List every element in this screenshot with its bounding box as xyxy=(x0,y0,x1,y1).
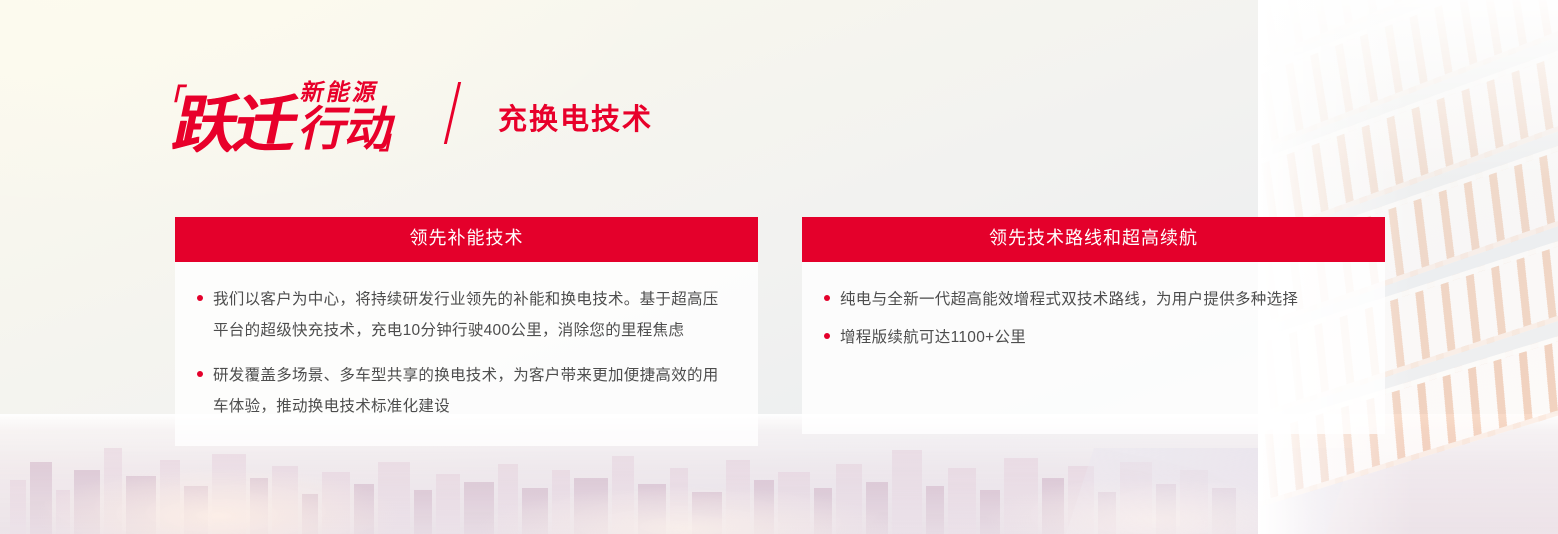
list-item: 增程版续航可达1100+公里 xyxy=(824,322,1359,355)
brand-logo: 「 跃迁 新能源 行动 「 xyxy=(175,72,393,154)
logo-main-text: 跃迁 xyxy=(169,96,301,154)
promo-banner: 「 跃迁 新能源 行动 「 充换电技术 领先补能技术 我们以客户为中心，将持续研… xyxy=(0,0,1558,534)
list-item: 我们以客户为中心，将持续研发行业领先的补能和换电技术。基于超高压平台的超级快充技… xyxy=(197,284,732,346)
card-title: 领先补能技术 xyxy=(175,217,758,262)
feature-card-range: 领先技术路线和超高续航 纯电与全新一代超高能效增程式双技术路线，为用户提供多种选… xyxy=(802,217,1385,446)
bullet-dot-icon xyxy=(824,295,830,301)
card-title: 领先技术路线和超高续航 xyxy=(802,217,1385,262)
slash-divider-icon xyxy=(444,82,461,144)
bullet-dot-icon xyxy=(197,371,203,377)
list-item: 纯电与全新一代超高能效增程式双技术路线，为用户提供多种选择 xyxy=(824,284,1359,317)
page-title: 充换电技术 xyxy=(498,96,653,138)
feature-card-charging: 领先补能技术 我们以客户为中心，将持续研发行业领先的补能和换电技术。基于超高压平… xyxy=(175,217,758,446)
list-item-text: 研发覆盖多场景、多车型共享的换电技术，为客户带来更加便捷高效的用车体验，推动换电… xyxy=(213,360,732,422)
card-body: 纯电与全新一代超高能效增程式双技术路线，为用户提供多种选择 增程版续航可达110… xyxy=(802,262,1385,434)
bullet-dot-icon xyxy=(197,295,203,301)
bullet-dot-icon xyxy=(824,333,830,339)
card-body: 我们以客户为中心，将持续研发行业领先的补能和换电技术。基于超高压平台的超级快充技… xyxy=(175,262,758,446)
list-item-text: 增程版续航可达1100+公里 xyxy=(840,322,1026,355)
feature-card-list: 领先补能技术 我们以客户为中心，将持续研发行业领先的补能和换电技术。基于超高压平… xyxy=(175,217,1385,446)
list-item: 研发覆盖多场景、多车型共享的换电技术，为客户带来更加便捷高效的用车体验，推动换电… xyxy=(197,360,732,422)
list-item-text: 我们以客户为中心，将持续研发行业领先的补能和换电技术。基于超高压平台的超级快充技… xyxy=(213,284,732,346)
banner-header: 「 跃迁 新能源 行动 「 充换电技术 xyxy=(175,72,653,154)
logo-text-stack: 新能源 行动 xyxy=(301,70,393,154)
list-item-text: 纯电与全新一代超高能效增程式双技术路线，为用户提供多种选择 xyxy=(840,284,1298,317)
